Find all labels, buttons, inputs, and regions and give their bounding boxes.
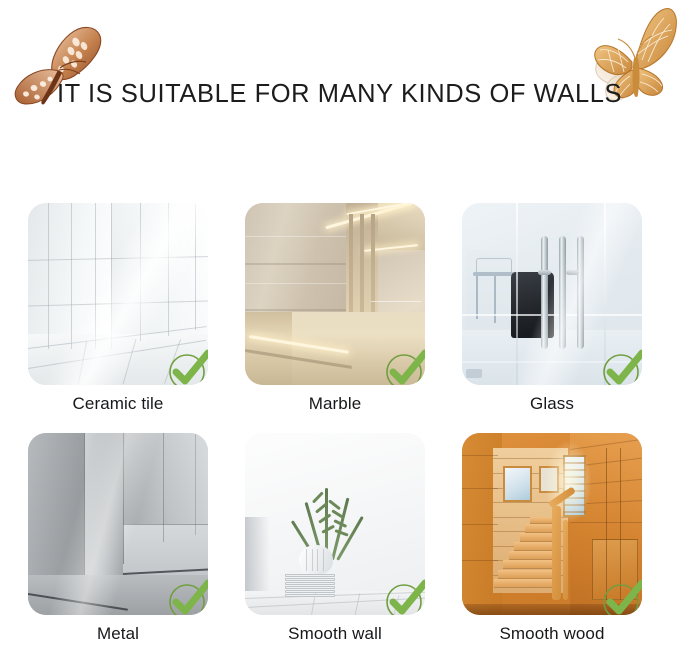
surface-label-marble: Marble (237, 394, 433, 414)
surface-label-ceramic-tile: Ceramic tile (20, 394, 216, 414)
check-badge-icon (600, 577, 642, 615)
check-badge-icon (600, 347, 642, 385)
surface-label-smooth-wall: Smooth wall (237, 624, 433, 644)
surface-card-metal[interactable]: Metal (20, 428, 216, 656)
check-badge-icon (383, 347, 425, 385)
surface-label-smooth-wood: Smooth wood (454, 624, 650, 644)
check-badge-icon (166, 577, 208, 615)
surface-card-smooth-wood[interactable]: Smooth wood (454, 428, 650, 656)
surface-thumbnail-marble (245, 203, 425, 385)
surface-thumbnail-ceramic-tile (28, 203, 208, 385)
surface-card-smooth-wall[interactable]: Smooth wall (237, 428, 433, 656)
page-header: IT IS SUITABLE FOR MANY KINDS OF WALLS (0, 0, 679, 190)
check-badge-icon (383, 577, 425, 615)
surface-thumbnail-smooth-wall (245, 433, 425, 615)
surface-thumbnail-smooth-wood (462, 433, 642, 615)
surface-card-glass[interactable]: Glass (454, 198, 650, 426)
surface-label-metal: Metal (20, 624, 216, 644)
surface-thumbnail-glass (462, 203, 642, 385)
surface-thumbnail-metal (28, 433, 208, 615)
surface-grid: Ceramic tile (0, 190, 679, 646)
page-title: IT IS SUITABLE FOR MANY KINDS OF WALLS (7, 78, 672, 109)
check-badge-icon (166, 347, 208, 385)
surface-label-glass: Glass (454, 394, 650, 414)
surface-card-marble[interactable]: Marble (237, 198, 433, 426)
surface-card-ceramic-tile[interactable]: Ceramic tile (20, 198, 216, 426)
